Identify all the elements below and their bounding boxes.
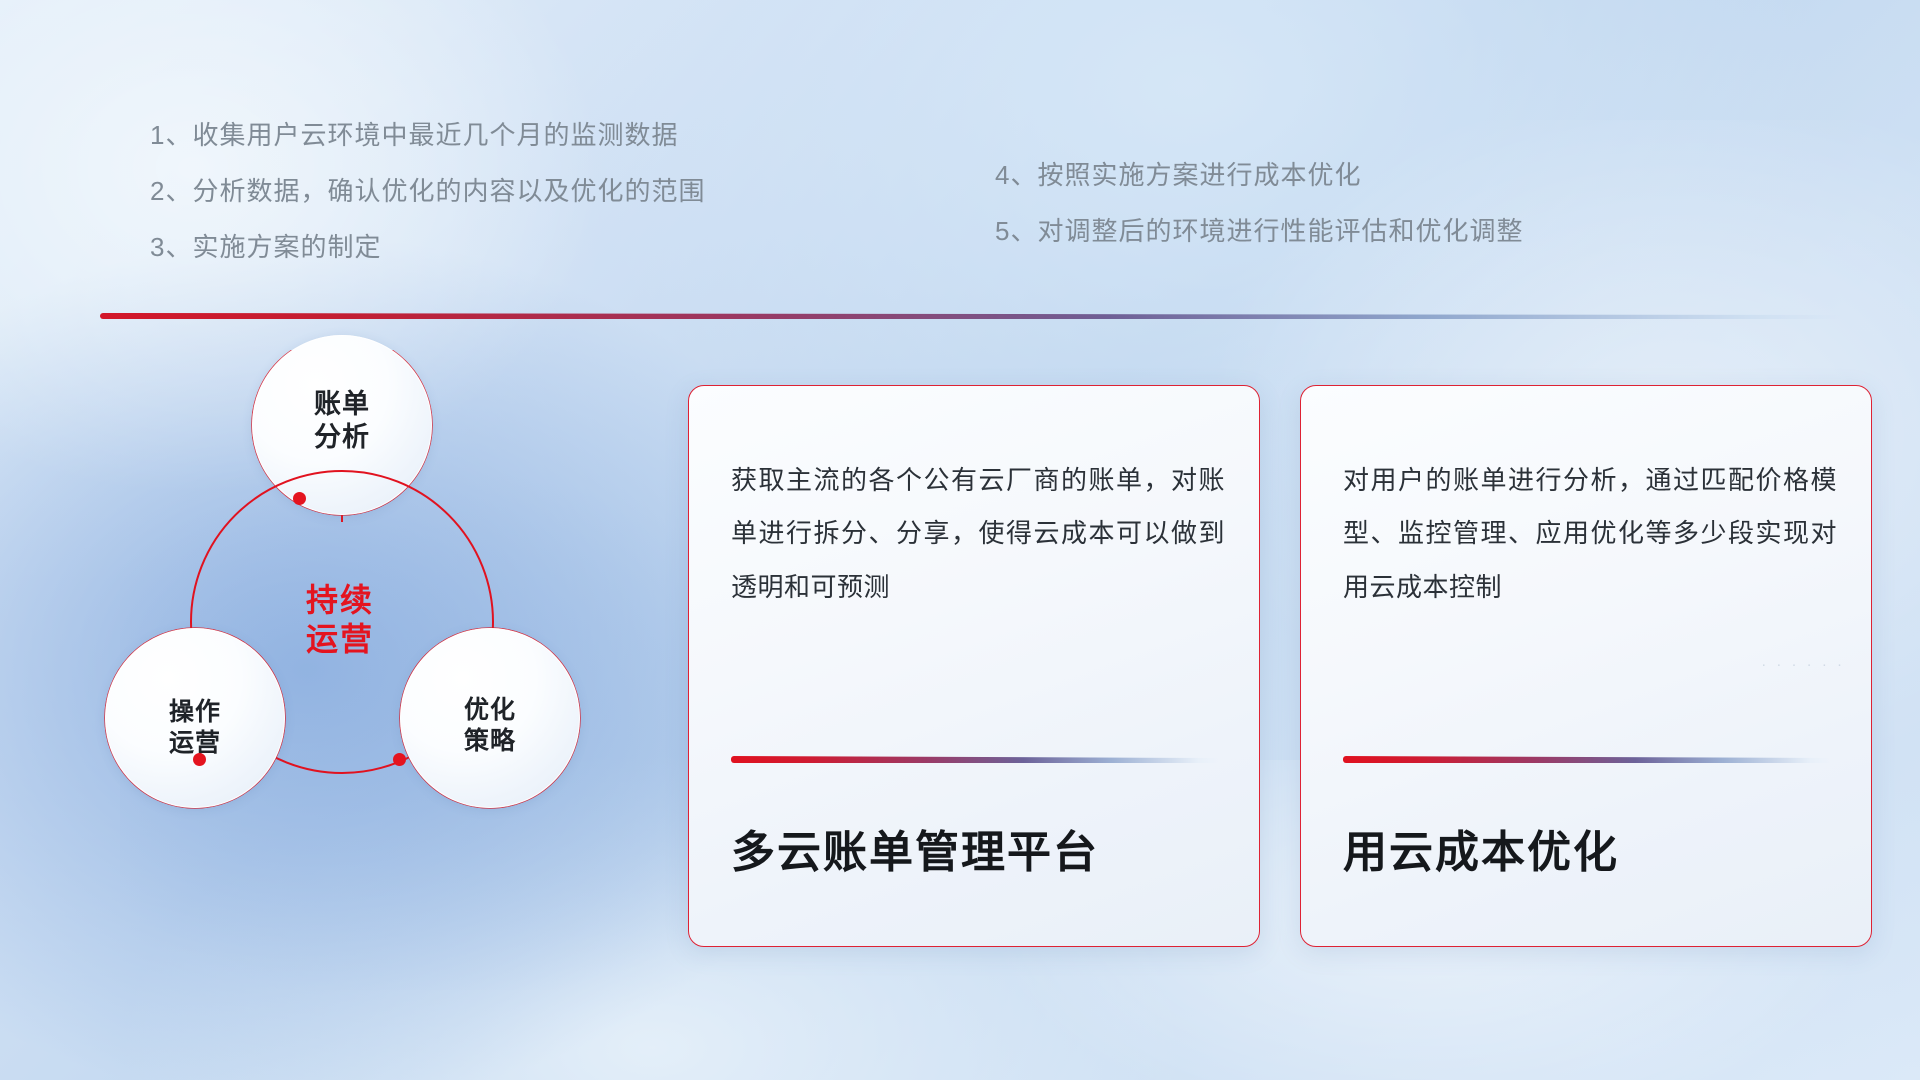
feature-card-multicloud-billing[interactable]: 获取主流的各个公有云厂商的账单，对账单进行拆分、分享，使得云成本可以做到透明和可… (688, 385, 1260, 947)
continuous-operation-diagram: 账单 分析 持续 运营 操作 运营 优化 策略 (80, 350, 640, 950)
step-item: 1、收集用户云环境中最近几个月的监测数据 (150, 122, 705, 148)
steps-list-left: 1、收集用户云环境中最近几个月的监测数据 2、分析数据，确认优化的内容以及优化的… (150, 122, 705, 290)
card-decoration-dots: · · · · · · (1761, 656, 1845, 673)
steps-list-right: 4、按照实施方案进行成本优化 5、对调整后的环境进行性能评估和优化调整 (995, 162, 1523, 274)
center-label-line-1: 持续 (306, 581, 374, 620)
diagram-connector-dot-left (193, 753, 206, 766)
card-title: 多云账单管理平台 (731, 816, 1099, 880)
step-item: 5、对调整后的环境进行性能评估和优化调整 (995, 218, 1523, 244)
diagram-node-optimization-strategy[interactable]: 优化 策略 (400, 628, 580, 808)
card-body-text: 对用户的账单进行分析，通过匹配价格模型、监控管理、应用优化等多少段实现对用云成本… (1343, 454, 1837, 614)
card-title: 用云成本优化 (1343, 816, 1619, 880)
diagram-node-label: 优化 策略 (464, 695, 516, 757)
step-item: 3、实施方案的制定 (150, 234, 705, 260)
card-accent-rule (731, 756, 1218, 763)
card-accent-rule (1343, 756, 1830, 763)
diagram-node-label: 账单 分析 (314, 388, 370, 455)
diagram-connector-dot-top (293, 492, 306, 505)
step-item: 4、按照实施方案进行成本优化 (995, 162, 1523, 188)
diagram-connector-dot-right (393, 753, 406, 766)
diagram-node-operations[interactable]: 操作 运营 (105, 628, 285, 808)
card-body-text: 获取主流的各个公有云厂商的账单，对账单进行拆分、分享，使得云成本可以做到透明和可… (731, 454, 1225, 614)
feature-card-cloud-cost-optimization[interactable]: 对用户的账单进行分析，通过匹配价格模型、监控管理、应用优化等多少段实现对用云成本… (1300, 385, 1872, 947)
center-label-line-2: 运营 (306, 620, 374, 659)
diagram-node-label: 操作 运营 (169, 697, 221, 759)
section-divider (100, 313, 1840, 319)
slide-canvas: 1、收集用户云环境中最近几个月的监测数据 2、分析数据，确认优化的内容以及优化的… (0, 0, 1920, 1080)
step-item: 2、分析数据，确认优化的内容以及优化的范围 (150, 178, 705, 204)
